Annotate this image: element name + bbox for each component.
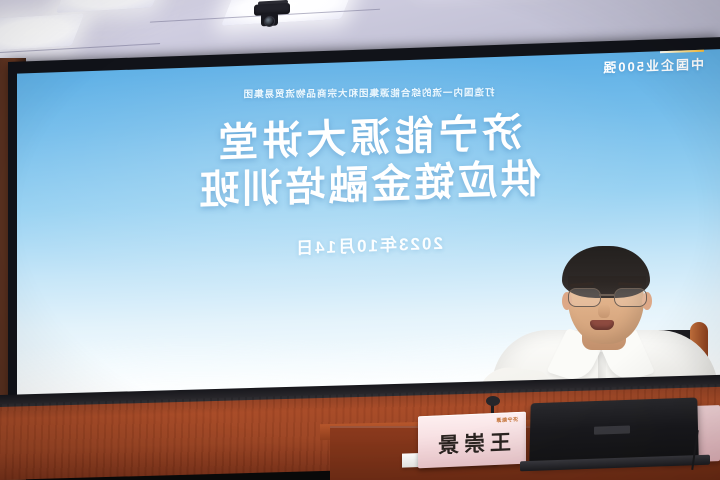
speaker-nameplate: 济宁能源 王崇景 <box>418 412 526 469</box>
slide-subtitle: 打造国内一流的综合能源集团和大宗商品物流贸易集团 <box>17 83 720 102</box>
speaker-nose <box>598 304 610 318</box>
photo-scene: 济宁能源 JINING ENERGY 中国企业500强 打造国内一流的综合能源集… <box>0 0 720 480</box>
slide-title: 济宁能源大讲堂 供应链金融培训班 <box>17 103 720 222</box>
ceiling-light-panel <box>0 13 84 51</box>
speaker-mouth <box>590 320 614 330</box>
ceiling-light-panel <box>56 0 164 13</box>
nameplate-brand: 济宁能源 <box>496 416 518 424</box>
laptop-brand-mark <box>594 425 630 434</box>
eyeglasses-icon <box>566 288 648 306</box>
glasses-lens-left <box>568 288 601 307</box>
glasses-bridge <box>599 294 614 296</box>
microphone-capsule <box>486 396 500 406</box>
nameplate-name: 王崇景 <box>418 426 526 461</box>
glasses-lens-right <box>614 288 647 307</box>
slide-text-block: 打造国内一流的综合能源集团和大宗商品物流贸易集团 济宁能源大讲堂 供应链金融培训… <box>17 49 720 269</box>
ceiling-camera-icon <box>252 0 292 32</box>
